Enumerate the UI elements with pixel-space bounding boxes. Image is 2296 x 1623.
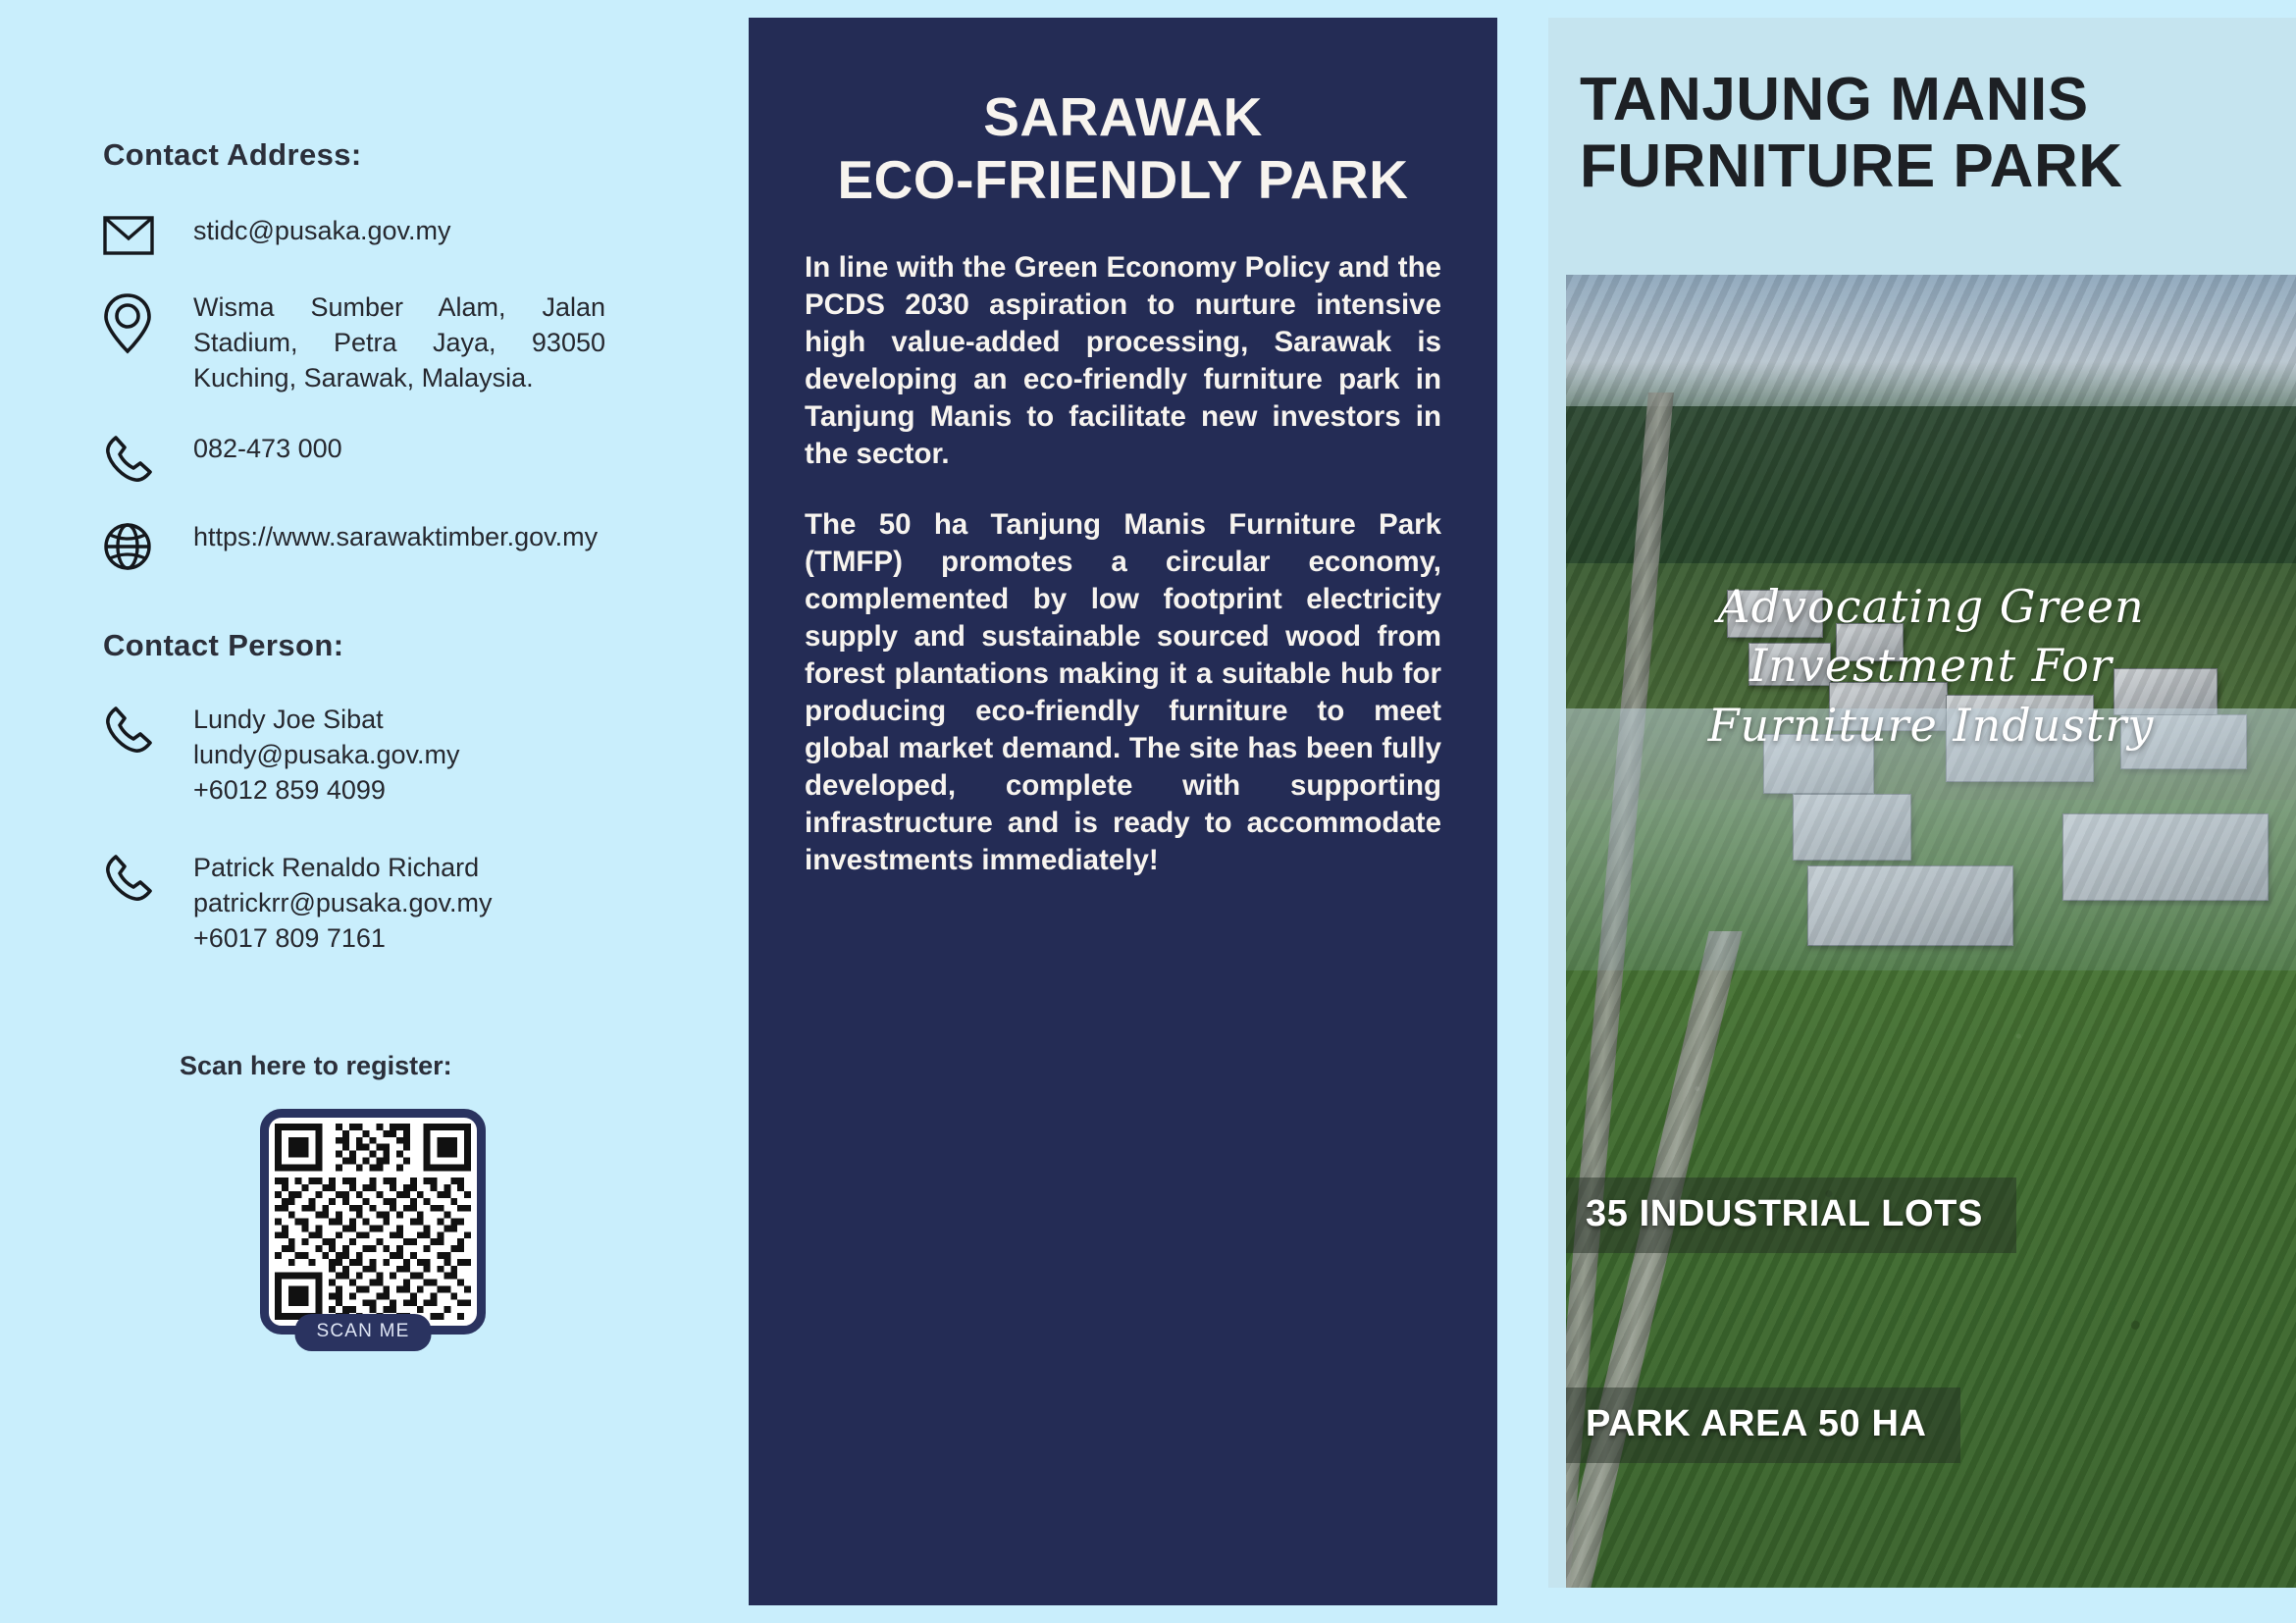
location-pin-icon	[103, 290, 193, 355]
contact-item-phone[interactable]: 082-473 000	[103, 432, 749, 485]
aerial-photo: Advocating Green Investment For Furnitur…	[1566, 275, 2296, 1588]
contact-address-text: Wisma Sumber Alam, Jalan Stadium, Petra …	[193, 290, 605, 396]
center-title-line-2: ECO-FRIENDLY PARK	[805, 149, 1441, 212]
person-name: Patrick Renaldo Richard	[193, 851, 493, 886]
center-paragraph-1: In line with the Green Economy Policy an…	[805, 249, 1441, 473]
badge-industrial-lots: 35 INDUSTRIAL LOTS	[1566, 1178, 2016, 1253]
contact-item-website[interactable]: https://www.sarawaktimber.gov.my	[103, 520, 749, 571]
right-title-line-2: FURNITURE PARK	[1580, 133, 2296, 200]
brochure-page: Contact Address: stidc@pusaka.gov.my	[0, 0, 2296, 1623]
contact-phone-text: 082-473 000	[193, 432, 342, 467]
contact-email-text: stidc@pusaka.gov.my	[193, 214, 451, 249]
contact-website-text: https://www.sarawaktimber.gov.my	[193, 520, 598, 555]
contact-person-2: Patrick Renaldo Richard patrickrr@pusaka…	[103, 851, 749, 957]
envelope-icon	[103, 214, 193, 255]
right-panel-title: TANJUNG MANIS FURNITURE PARK	[1548, 18, 2296, 200]
contact-item-email[interactable]: stidc@pusaka.gov.my	[103, 214, 749, 255]
badge-park-area: PARK AREA 50 HA	[1566, 1387, 1960, 1463]
contact-person-heading: Contact Person:	[103, 628, 749, 663]
globe-icon	[103, 520, 193, 571]
center-panel-wrapper: SARAWAK ECO-FRIENDLY PARK In line with t…	[749, 0, 1548, 1623]
furniture-park-panel: TANJUNG MANIS FURNITURE PARK	[1548, 0, 2296, 1623]
center-title-line-1: SARAWAK	[805, 86, 1441, 149]
scan-heading: Scan here to register:	[180, 1051, 749, 1081]
eco-park-panel: SARAWAK ECO-FRIENDLY PARK In line with t…	[749, 18, 1497, 1605]
qr-code-block[interactable]: SCAN ME	[260, 1109, 466, 1335]
phone-icon	[103, 432, 193, 485]
person-phone[interactable]: +6012 859 4099	[193, 773, 460, 809]
scan-me-badge: SCAN ME	[295, 1314, 432, 1351]
photo-caption-line-2: Furniture Industry	[1592, 696, 2270, 756]
contact-address-heading: Contact Address:	[103, 137, 749, 173]
contact-item-address: Wisma Sumber Alam, Jalan Stadium, Petra …	[103, 290, 749, 396]
contact-person-1: Lundy Joe Sibat lundy@pusaka.gov.my +601…	[103, 703, 749, 809]
contact-panel: Contact Address: stidc@pusaka.gov.my	[0, 0, 749, 1623]
qr-code-image[interactable]	[260, 1109, 486, 1335]
person-phone[interactable]: +6017 809 7161	[193, 921, 493, 957]
right-title-line-1: TANJUNG MANIS	[1580, 67, 2296, 133]
person-email[interactable]: lundy@pusaka.gov.my	[193, 738, 460, 773]
person-email[interactable]: patrickrr@pusaka.gov.my	[193, 886, 493, 921]
photo-caption: Advocating Green Investment For Furnitur…	[1566, 577, 2296, 756]
phone-icon	[103, 851, 193, 904]
center-panel-title: SARAWAK ECO-FRIENDLY PARK	[805, 86, 1441, 212]
person-name: Lundy Joe Sibat	[193, 703, 460, 738]
phone-icon	[103, 703, 193, 756]
photo-caption-line-1: Advocating Green Investment For	[1592, 577, 2270, 696]
center-paragraph-2: The 50 ha Tanjung Manis Furniture Park (…	[805, 506, 1441, 879]
